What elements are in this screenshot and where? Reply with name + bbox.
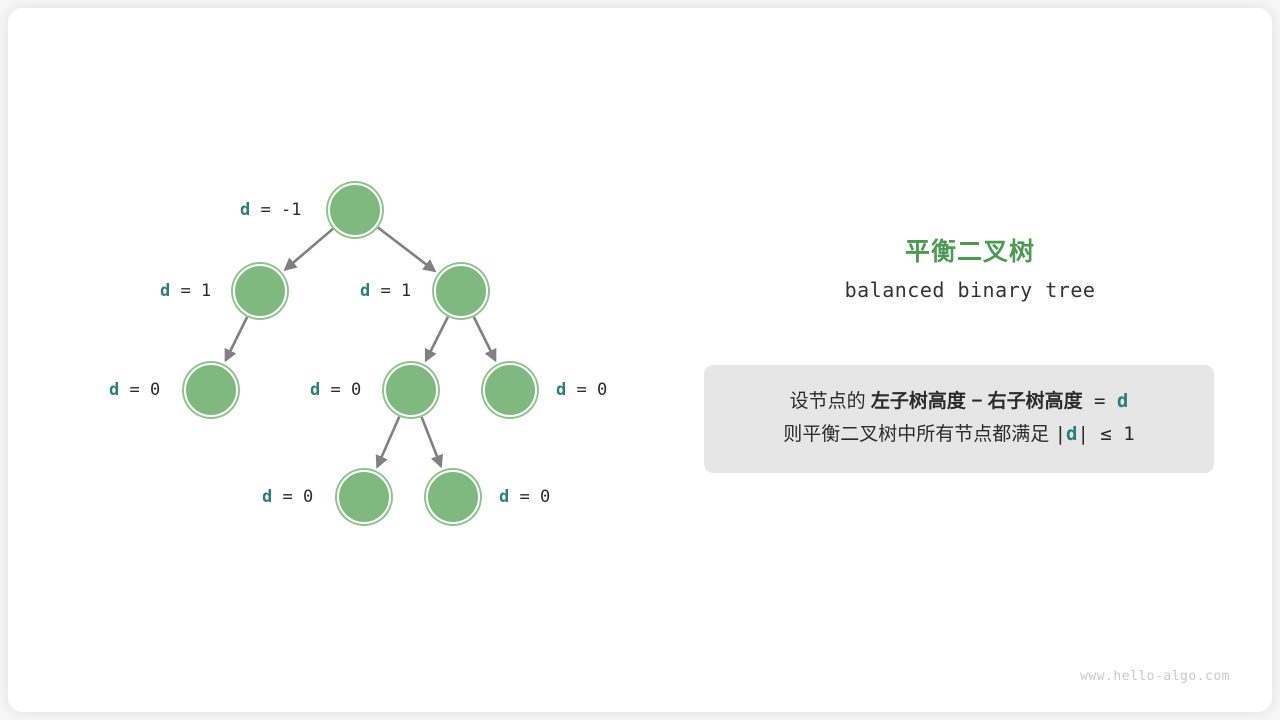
tree-node-n-leaf-left[interactable]	[337, 470, 391, 524]
binary-tree-diagram: d = -1d = 1d = 1d = 0d = 0d = 0d = 0d = …	[8, 8, 668, 712]
tree-edge	[422, 417, 441, 466]
balance-factor-value: = 1	[170, 281, 211, 301]
balance-factor-label-n-right-left: d = 0	[310, 380, 361, 400]
balance-factor-label-n-left-left: d = 0	[109, 380, 160, 400]
balance-factor-symbol: d	[310, 380, 320, 400]
definition-line-2-bar-open: |	[1055, 423, 1066, 445]
balance-factor-symbol: d	[262, 487, 272, 507]
definition-line-2-symbol: d	[1066, 423, 1077, 445]
balance-factor-symbol: d	[160, 281, 170, 301]
definition-line-2-bar-close: |	[1077, 423, 1088, 445]
tree-edge	[426, 317, 448, 361]
definition-line-1-equals: =	[1083, 390, 1117, 412]
diagram-canvas: d = -1d = 1d = 1d = 0d = 0d = 0d = 0d = …	[0, 0, 1280, 720]
tree-node-n-right[interactable]	[434, 264, 488, 318]
balance-factor-value: = 0	[509, 487, 550, 507]
tree-node-n-right-right[interactable]	[483, 363, 537, 417]
balance-factor-label-n-right: d = 1	[360, 281, 411, 301]
balance-factor-label-n-leaf-right: d = 0	[499, 487, 550, 507]
tree-edge	[378, 228, 435, 271]
balance-factor-value: = 0	[119, 380, 160, 400]
tree-node-n-right-left[interactable]	[384, 363, 438, 417]
balance-factor-symbol: d	[360, 281, 370, 301]
panel-title: 平衡二叉树	[668, 232, 1272, 268]
balance-factor-label-n-leaf-left: d = 0	[262, 487, 313, 507]
balance-factor-symbol: d	[499, 487, 509, 507]
info-panel: 平衡二叉树 balanced binary tree 设节点的 左子树高度 − …	[668, 8, 1272, 712]
definition-box: 设节点的 左子树高度 − 右子树高度 = d 则平衡二叉树中所有节点都满足 |d…	[704, 365, 1214, 473]
balance-factor-value: = 0	[272, 487, 313, 507]
tree-edges	[8, 8, 668, 712]
tree-node-root[interactable]	[328, 183, 382, 237]
balance-factor-value: = -1	[250, 200, 301, 220]
panel-subtitle: balanced binary tree	[668, 278, 1272, 302]
tree-edge	[226, 317, 247, 360]
definition-line-1: 设节点的 左子树高度 − 右子树高度 = d	[704, 385, 1214, 418]
diagram-card: d = -1d = 1d = 1d = 0d = 0d = 0d = 0d = …	[8, 8, 1272, 712]
definition-line-1-symbol: d	[1117, 390, 1128, 412]
balance-factor-label-root: d = -1	[240, 200, 301, 220]
balance-factor-symbol: d	[556, 380, 566, 400]
tree-node-n-left[interactable]	[233, 264, 287, 318]
tree-edge	[285, 229, 333, 270]
balance-factor-label-n-left: d = 1	[160, 281, 211, 301]
definition-line-1-prefix: 设节点的	[790, 391, 871, 412]
definition-line-1-strong: 左子树高度 − 右子树高度	[871, 391, 1083, 412]
balance-factor-symbol: d	[240, 200, 250, 220]
balance-factor-value: = 0	[566, 380, 607, 400]
watermark: www.hello-algo.com	[1080, 669, 1230, 684]
tree-edge	[474, 317, 495, 360]
definition-line-2-prefix: 则平衡二叉树中所有节点都满足	[783, 424, 1054, 445]
balance-factor-symbol: d	[109, 380, 119, 400]
tree-edge	[377, 417, 399, 467]
balance-factor-label-n-right-right: d = 0	[556, 380, 607, 400]
tree-node-n-leaf-right[interactable]	[426, 470, 480, 524]
balance-factor-value: = 0	[320, 380, 361, 400]
definition-line-2: 则平衡二叉树中所有节点都满足 |d| ≤ 1	[704, 418, 1214, 451]
definition-line-2-relation: ≤ 1	[1089, 423, 1135, 445]
balance-factor-value: = 1	[370, 281, 411, 301]
tree-node-n-left-left[interactable]	[184, 363, 238, 417]
